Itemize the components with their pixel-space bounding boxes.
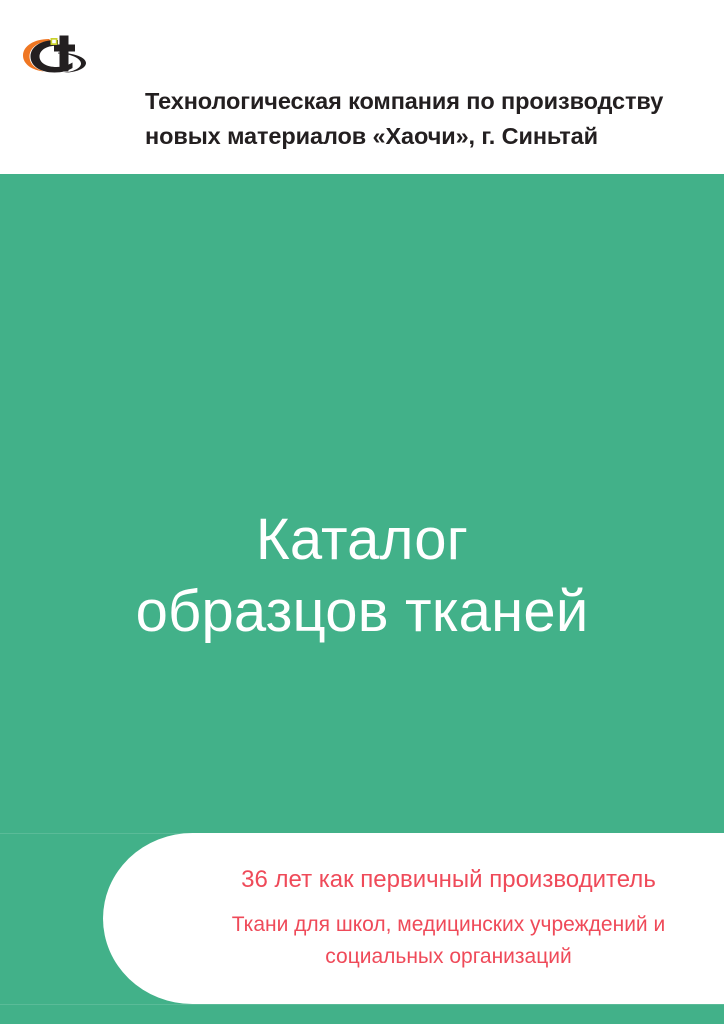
highlight-banner-content: 36 лет как первичный производитель Ткани…: [173, 833, 724, 1004]
banner-subtext: Ткани для школ, медицинских учреждений и…: [179, 909, 719, 973]
page-title-line-1: Каталог: [0, 504, 724, 576]
haochi-company-logo-icon: [18, 28, 94, 84]
company-name-line-2: новых материалов «Хаочи», г. Синьтай: [145, 123, 598, 149]
divider-bottom: [0, 1004, 724, 1005]
banner-subtext-line-1: Ткани для школ, медицинских учреждений и: [232, 913, 665, 936]
company-name: Технологическая компания по производству…: [145, 84, 720, 154]
cover-background: Каталог образцов тканей 36 лет как перви…: [0, 174, 724, 1024]
page-header: Технологическая компания по производству…: [0, 0, 724, 174]
page-title-line-2: образцов тканей: [0, 576, 724, 648]
page-title: Каталог образцов тканей: [0, 504, 724, 648]
banner-headline: 36 лет как первичный производитель: [241, 865, 656, 895]
highlight-banner: 36 лет как первичный производитель Ткани…: [103, 833, 724, 1004]
banner-subtext-line-2: социальных организаций: [325, 945, 571, 968]
company-name-line-1: Технологическая компания по производству: [145, 88, 663, 114]
cover-page: Технологическая компания по производству…: [0, 0, 724, 1024]
